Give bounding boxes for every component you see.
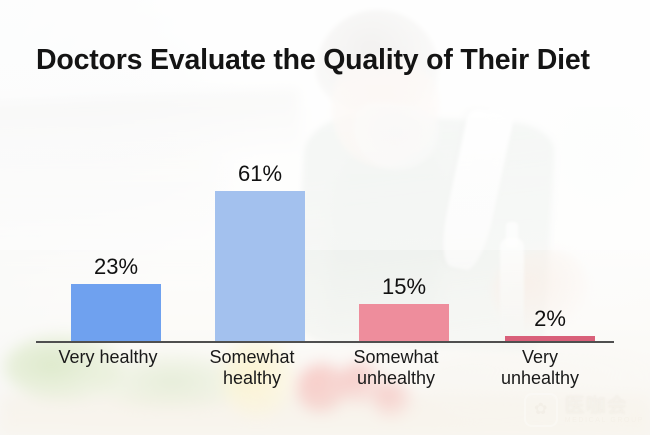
category-label-very-unhealthy: Veryunhealthy (468, 347, 612, 389)
bar-value-label-somewhat-healthy: 61% (215, 161, 305, 187)
plot-area: 23% 61% 15% 2% Very healthy Somewhatheal… (0, 0, 650, 435)
bar-value-label-very-healthy: 23% (71, 254, 161, 280)
category-label-line: Very (468, 347, 612, 368)
category-label-somewhat-healthy: Somewhathealthy (180, 347, 324, 389)
x-axis-line (36, 341, 614, 343)
category-label-line: unhealthy (468, 368, 612, 389)
category-label-line: Very healthy (36, 347, 180, 368)
chart-foreground: Doctors Evaluate the Quality of Their Di… (0, 0, 650, 435)
watermark-brand-en: MEDICAL GROUP (565, 417, 644, 424)
bar-somewhat-healthy[interactable] (215, 191, 305, 341)
bar-value-label-somewhat-unhealthy: 15% (359, 274, 449, 300)
category-label-line: Somewhat (180, 347, 324, 368)
watermark-logo-icon: ✿ (524, 393, 558, 427)
category-label-somewhat-unhealthy: Somewhatunhealthy (324, 347, 468, 389)
watermark: ✿ 医咖会 MEDICAL GROUP (524, 393, 644, 427)
bar-value-label-very-unhealthy: 2% (505, 306, 595, 332)
chart-card: Doctors Evaluate the Quality of Their Di… (0, 0, 650, 435)
watermark-brand-cn: 医咖会 (565, 396, 644, 417)
category-label-very-healthy: Very healthy (36, 347, 180, 368)
bar-somewhat-unhealthy[interactable] (359, 304, 449, 341)
bar-very-healthy[interactable] (71, 284, 161, 341)
category-label-line: unhealthy (324, 368, 468, 389)
category-label-line: Somewhat (324, 347, 468, 368)
watermark-text: 医咖会 MEDICAL GROUP (565, 396, 644, 424)
category-label-line: healthy (180, 368, 324, 389)
